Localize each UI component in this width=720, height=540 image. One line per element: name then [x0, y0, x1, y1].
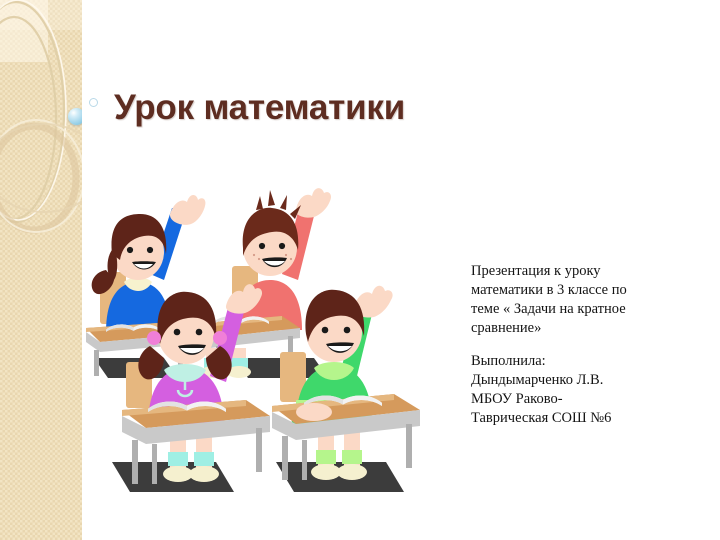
- paragraph-spacer: [471, 337, 686, 352]
- sidebar-arc-decoration: [0, 0, 82, 540]
- body-paragraph-2-line-4: Таврическая СОШ №6: [471, 409, 686, 428]
- small-circle-accent-icon: [89, 98, 98, 107]
- body-paragraph-1-line-2: математики в 3 классе по: [471, 281, 686, 300]
- body-paragraph-2-line-2: Дындымарченко Л.В.: [471, 371, 686, 390]
- decorative-sidebar: [0, 0, 82, 540]
- body-paragraph-1-line-1: Презентация к уроку: [471, 262, 686, 281]
- classroom-illustration: [86, 162, 490, 512]
- body-paragraph-2-line-1: Выполнила:: [471, 352, 686, 371]
- body-paragraph-1-line-3: теме « Задачи на кратное: [471, 300, 686, 319]
- blue-sphere-accent-icon: [68, 108, 82, 125]
- body-text-block: Презентация к уроку математики в 3 класс…: [471, 262, 686, 428]
- page-title: Урок математики: [114, 88, 405, 128]
- presentation-slide: Урок математики: [0, 0, 720, 540]
- body-paragraph-2-line-3: МБОУ Раково-: [471, 390, 686, 409]
- body-paragraph-1-line-4: сравнение»: [471, 319, 686, 338]
